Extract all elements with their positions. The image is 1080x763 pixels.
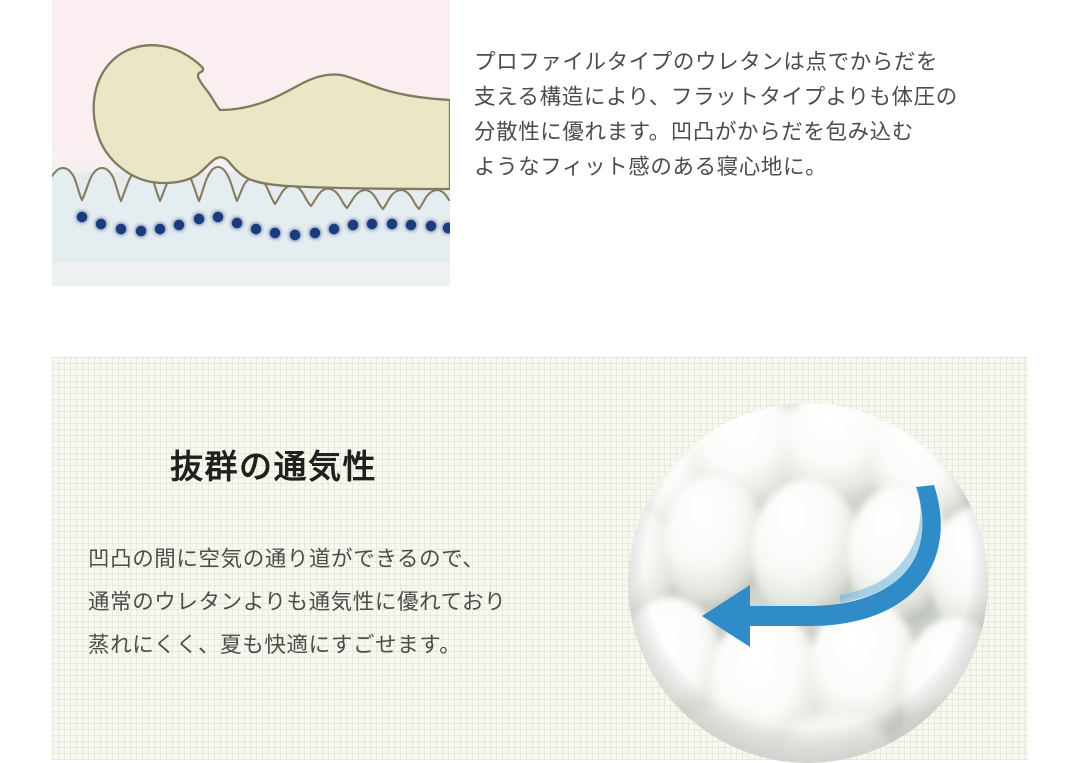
pressure-dot bbox=[387, 219, 397, 229]
breathability-description: 凹凸の間に空気の通り道ができるので、 通常のウレタンよりも通気性に優れており 蒸… bbox=[88, 538, 588, 667]
pressure-dot bbox=[77, 212, 87, 222]
pressure-dot bbox=[290, 230, 300, 240]
foam-surface bbox=[628, 403, 988, 763]
base-shadow bbox=[52, 262, 450, 286]
pressure-dot bbox=[96, 219, 106, 229]
pressure-dot bbox=[406, 220, 416, 230]
egg-crate-foam-photo bbox=[628, 403, 988, 763]
pressure-dot bbox=[194, 214, 204, 224]
pressure-dot bbox=[232, 218, 242, 228]
pressure-dot bbox=[155, 224, 165, 234]
paragraph-line: 通常のウレタンよりも通気性に優れており bbox=[88, 581, 588, 624]
pressure-dot bbox=[251, 224, 261, 234]
paragraph-line: 支える構造により、フラットタイプよりも体圧の bbox=[474, 80, 1019, 115]
pressure-dot bbox=[310, 228, 320, 238]
paragraph-line: 凹凸の間に空気の通り道ができるので、 bbox=[88, 538, 588, 581]
pressure-dot bbox=[116, 224, 126, 234]
profile-urethane-illustration bbox=[52, 0, 450, 286]
pressure-dot bbox=[270, 228, 280, 238]
paragraph-line: プロファイルタイプのウレタンは点でからだを bbox=[474, 45, 1019, 80]
paragraph-line: 分散性に優れます。凹凸がからだを包み込む bbox=[474, 115, 1019, 150]
feature-heading: 抜群の通気性 bbox=[170, 447, 377, 487]
paragraph-line: ようなフィット感のある寝心地に。 bbox=[474, 150, 1019, 185]
cross-section-diagram bbox=[52, 0, 450, 286]
foam-closeup-graphic bbox=[628, 403, 988, 763]
pressure-dot bbox=[367, 219, 377, 229]
pressure-dot bbox=[174, 220, 184, 230]
body-silhouette bbox=[94, 45, 450, 189]
profile-type-description: プロファイルタイプのウレタンは点でからだを 支える構造により、フラットタイプより… bbox=[474, 45, 1019, 185]
pressure-dot bbox=[136, 226, 146, 236]
paragraph-line: 蒸れにくく、夏も快適にすごせます。 bbox=[88, 624, 588, 667]
pressure-dot bbox=[426, 221, 436, 231]
pressure-dot bbox=[348, 220, 358, 230]
profile-type-section: プロファイルタイプのウレタンは点でからだを 支える構造により、フラットタイプより… bbox=[0, 0, 1080, 300]
pressure-dot bbox=[329, 224, 339, 234]
pressure-dot bbox=[213, 212, 223, 222]
